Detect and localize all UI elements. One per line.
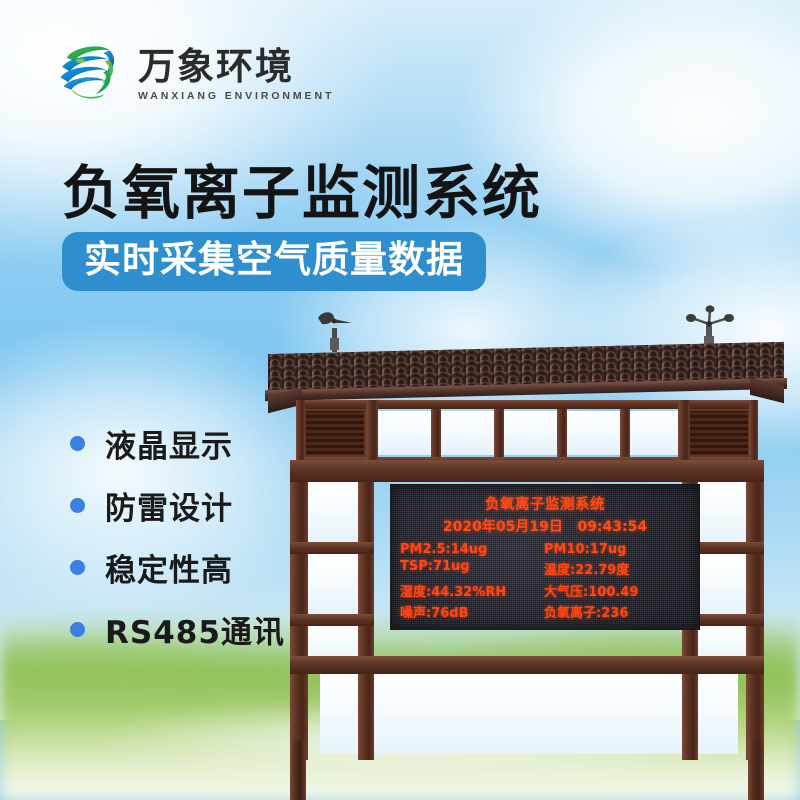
led-reading-row: PM2.5:14ug PM10:17ug [398, 542, 692, 557]
body-top-rail [290, 460, 764, 482]
led-reading-row: 湿度:44.32%RH 大气压:100.49 [398, 581, 692, 600]
led-display-panel: 负氧离子监测系统 2020年05月19日 09:43:54 PM2.5:14ug… [390, 484, 700, 630]
led-reading-row: 噪声:76dB 负氧离子:236 [398, 602, 692, 621]
side-panel-opening [698, 482, 750, 542]
led-reading-tsp: TSP:71ug [400, 559, 544, 578]
list-item: 稳定性高 [70, 536, 285, 598]
bullet-dot-icon [70, 436, 85, 451]
louver-vent-right [688, 409, 750, 457]
list-item: 防雷设计 [70, 474, 285, 536]
brand-logo: 万象环境 WANXIANG ENVIRONMENT [50, 35, 334, 111]
led-reading-temp: 温度:22.79度 [544, 559, 690, 578]
bullet-dot-icon [70, 498, 85, 513]
frame-post [296, 400, 305, 466]
feature-list: 液晶显示 防雷设计 稳定性高 RS485通讯 [70, 412, 285, 660]
led-reading-anion: 负氧离子:236 [544, 602, 690, 621]
window-opening [504, 411, 557, 455]
frame-post [678, 400, 690, 466]
bullet-dot-icon [70, 560, 85, 575]
feature-label: RS485通讯 [105, 607, 285, 652]
side-rail [290, 614, 374, 626]
led-reading-humidity: 湿度:44.32%RH [400, 581, 544, 600]
led-readings: PM2.5:14ug PM10:17ug TSP:71ug 温度:22.79度 … [398, 539, 692, 621]
frame-mullion [557, 409, 567, 457]
frame-post-right [746, 460, 764, 760]
led-reading-noise: 噪声:76dB [400, 602, 544, 621]
led-title: 负氧离子监测系统 [485, 493, 605, 514]
feature-label: 防雷设计 [105, 483, 233, 528]
poster-canvas: 万象环境 WANXIANG ENVIRONMENT 负氧离子监测系统 实时采集空… [0, 0, 800, 800]
brand-name-en: WANXIANG ENVIRONMENT [138, 90, 334, 102]
side-panel-opening [306, 554, 358, 614]
globe-swirl-logo-icon [50, 35, 126, 111]
frame-mullion [620, 409, 630, 457]
body-mid-rail [290, 656, 764, 674]
frame-mullion [431, 409, 441, 457]
feature-label: 液晶显示 [105, 421, 233, 466]
station-upper-band [296, 400, 758, 466]
led-reading-row: TSP:71ug 温度:22.79度 [398, 559, 692, 578]
wind-direction-vane-icon [312, 308, 358, 356]
frame-post [749, 400, 758, 466]
frame-post-inner-left [358, 460, 374, 760]
led-reading-pressure: 大气压:100.49 [544, 581, 690, 600]
frame-mullion [494, 409, 504, 457]
side-panel-opening [698, 554, 750, 614]
support-leg-left [290, 740, 306, 800]
window-opening [441, 411, 494, 455]
window-opening [378, 411, 431, 455]
led-date: 2020年05月19日 [443, 519, 563, 535]
led-reading-pm10: PM10:17ug [544, 542, 690, 557]
page-subtitle-badge: 实时采集空气质量数据 [62, 232, 486, 291]
frame-post [366, 400, 378, 466]
side-rail [290, 542, 374, 554]
feature-label: 稳定性高 [105, 545, 233, 590]
page-title: 负氧离子监测系统 [62, 146, 542, 230]
station-body: 负氧离子监测系统 2020年05月19日 09:43:54 PM2.5:14ug… [290, 460, 764, 760]
louver-vent-left [304, 409, 366, 457]
led-reading-pm25: PM2.5:14ug [400, 542, 544, 557]
support-leg-right [748, 740, 764, 800]
brand-text: 万象环境 WANXIANG ENVIRONMENT [138, 44, 334, 102]
list-item: RS485通讯 [70, 598, 285, 660]
list-item: 液晶显示 [70, 412, 285, 474]
window-opening [567, 411, 620, 455]
side-panel-opening [306, 482, 358, 542]
station-legs [290, 740, 764, 800]
led-datetime: 2020年05月19日 09:43:54 [443, 516, 647, 536]
bullet-dot-icon [70, 622, 85, 637]
monitoring-station: 负氧离子监测系统 2020年05月19日 09:43:54 PM2.5:14ug… [268, 300, 788, 750]
frame-post-left [290, 460, 308, 760]
led-time: 09:43:54 [577, 519, 647, 535]
window-opening [630, 411, 678, 455]
brand-name-cn: 万象环境 [138, 48, 334, 87]
